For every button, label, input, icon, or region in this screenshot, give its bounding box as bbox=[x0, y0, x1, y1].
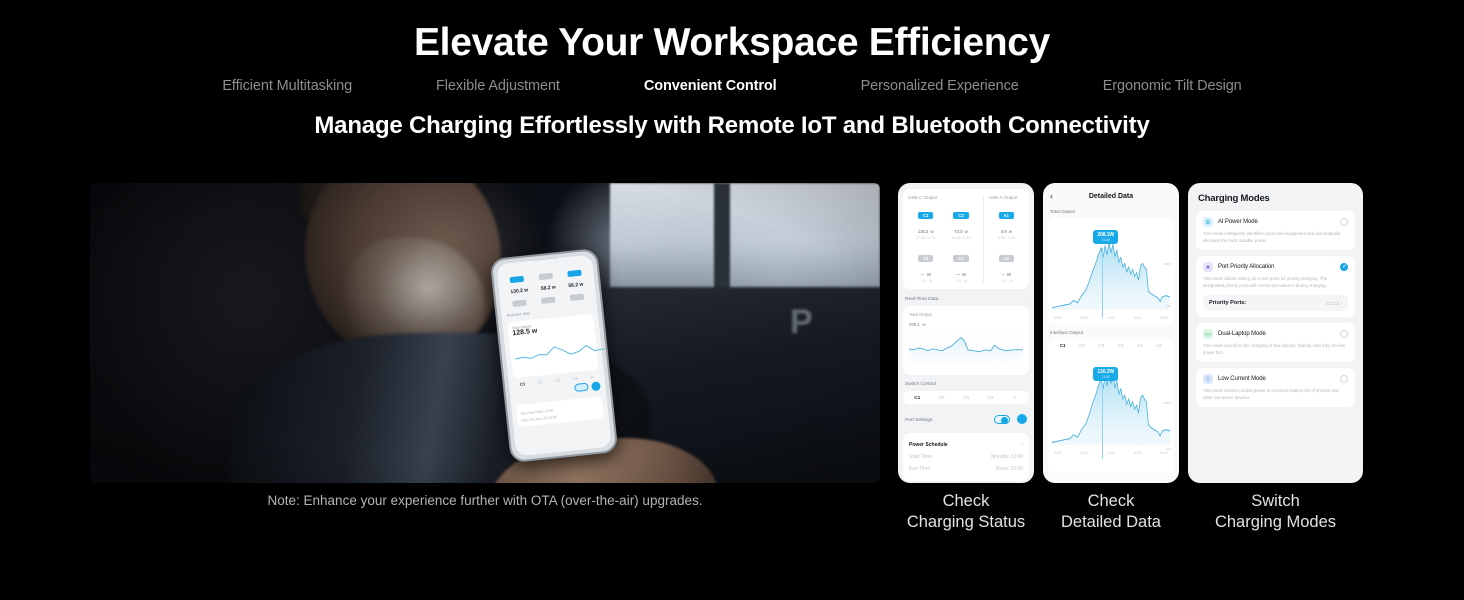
mode-ai-header: ⚙ AI Power Mode bbox=[1203, 217, 1348, 227]
timer-toggle[interactable] bbox=[994, 415, 1010, 424]
priority-ports-label: Priority Ports: bbox=[1209, 300, 1246, 306]
interface-output-tooltip: 130.2W 11:30 bbox=[1093, 367, 1118, 381]
iface-x-tick-3: 18:00 bbox=[1134, 451, 1142, 455]
switch-tab-a[interactable]: A bbox=[1003, 395, 1027, 400]
port-a1-badge: A1 bbox=[999, 212, 1014, 219]
promo-page: Elevate Your Workspace Efficiency Effici… bbox=[0, 0, 1464, 600]
interface-output-x-axis: 00:00 06:00 12:00 18:00 24:00 bbox=[1052, 451, 1170, 455]
usb-c-row-2: C3 --- W --V / --A C4 --- W --V / --A bbox=[908, 247, 979, 283]
total-x-tick-3: 18:00 bbox=[1134, 316, 1142, 320]
end-time-value: Never 15:00 bbox=[996, 466, 1023, 472]
priority-ports-row[interactable]: Priority Ports: C1 C2 › bbox=[1203, 295, 1348, 311]
charging-modes-title: Charging Modes bbox=[1198, 193, 1353, 204]
nav-item-convenient-control[interactable]: Convenient Control bbox=[602, 78, 819, 94]
switch-tab-c4[interactable]: C4 bbox=[978, 395, 1002, 400]
content-row: P 130.2 w 58.2 w bbox=[90, 183, 1376, 483]
port-c3-detail: --V / --A bbox=[908, 279, 943, 283]
mode-dl-radio[interactable] bbox=[1340, 330, 1348, 338]
screenshot-charging-status: USB-C Output C1 130.2 w 27.53 / 4.73 C2 bbox=[898, 183, 1034, 533]
screenshot-charging-modes: Charging Modes ⚙ AI Power Mode This mode… bbox=[1188, 183, 1363, 533]
interface-tab-a1[interactable]: A1 bbox=[1130, 343, 1149, 348]
usb-a-row-1: A1 4.9 w 4.86 / 1.16 bbox=[989, 204, 1024, 240]
iface-x-tick-4: 24:00 bbox=[1160, 451, 1168, 455]
port-c1[interactable]: C1 130.2 w 27.53 / 4.73 bbox=[908, 204, 943, 240]
port-c2-power: 73.0 w bbox=[943, 225, 978, 235]
port-settings-row: Port Settings bbox=[905, 411, 1027, 429]
app-screenshots: USB-C Output C1 130.2 w 27.53 / 4.73 C2 bbox=[898, 183, 1363, 533]
interface-output-card: C1 C2 C3 C4 A1 A2 130.2W 11:30 bbox=[1048, 339, 1174, 473]
screenshot-1-caption: Check Charging Status bbox=[907, 491, 1025, 533]
port-a1-power: 4.9 w bbox=[989, 225, 1024, 235]
usb-a-row-2: A2 -- W --V / --A bbox=[989, 247, 1024, 283]
charging-modes-screen: Charging Modes ⚙ AI Power Mode This mode… bbox=[1188, 183, 1363, 421]
switch-control-header: Switch Control bbox=[905, 382, 1027, 387]
total-output-y-max: 500W bbox=[1163, 262, 1171, 266]
section-subtitle: Manage Charging Effortlessly with Remote… bbox=[0, 112, 1464, 140]
port-c3-unit: W bbox=[927, 272, 931, 277]
interface-output-tooltip-line bbox=[1102, 385, 1103, 459]
start-time-label: Start Time bbox=[909, 454, 932, 460]
detailed-data-screen: ‹ Detailed Data Total Output 208.1W 11:3… bbox=[1043, 183, 1179, 479]
ai-chip-icon: ⚙ bbox=[1203, 217, 1213, 227]
total-output-section-label: Total Output bbox=[1050, 209, 1172, 214]
realtime-data-label: Real-Time Data bbox=[905, 297, 938, 302]
nav-item-personalized-experience[interactable]: Personalized Experience bbox=[819, 78, 1061, 94]
screenshot-1-frame: USB-C Output C1 130.2 w 27.53 / 4.73 C2 bbox=[898, 183, 1034, 483]
screenshot-3-caption: Switch Charging Modes bbox=[1215, 491, 1336, 533]
detail-navbar: ‹ Detailed Data bbox=[1048, 189, 1174, 203]
mode-lc-name: Low Current Mode bbox=[1218, 376, 1340, 382]
chevron-right-icon: › bbox=[1025, 296, 1027, 302]
switch-tab-c3[interactable]: C3 bbox=[954, 395, 978, 400]
total-x-tick-1: 06:00 bbox=[1081, 316, 1089, 320]
nav-item-ergonomic-tilt-design[interactable]: Ergonomic Tilt Design bbox=[1061, 78, 1284, 94]
power-toggle-icon[interactable] bbox=[1017, 414, 1027, 424]
port-c2-unit: w bbox=[965, 229, 968, 234]
usb-c-title: USB-C Output bbox=[908, 195, 979, 200]
total-output-unit: w bbox=[923, 322, 926, 327]
switch-control-label: Switch Control bbox=[905, 382, 936, 387]
schedule-row-end: End Time Never 15:00 bbox=[909, 463, 1023, 475]
photo-vignette bbox=[90, 183, 880, 483]
mode-dl-desc: This mode prioritizes the charging of tw… bbox=[1203, 343, 1348, 356]
port-c4-watts: --- bbox=[956, 272, 960, 277]
iface-x-tick-0: 00:00 bbox=[1054, 451, 1062, 455]
iface-x-tick-2: 12:00 bbox=[1107, 451, 1115, 455]
interface-tab-c2[interactable]: C2 bbox=[1072, 343, 1091, 348]
nav-item-efficient-multitasking[interactable]: Efficient Multitasking bbox=[180, 78, 394, 94]
lifestyle-photo: P 130.2 w 58.2 w bbox=[90, 183, 880, 483]
mode-pp-header: ★ Port Priority Allocation bbox=[1203, 262, 1348, 272]
mode-dual-laptop[interactable]: ▭ Dual-Laptop Mode This mode prioritizes… bbox=[1196, 323, 1355, 362]
usb-c-group: USB-C Output C1 130.2 w 27.53 / 4.73 C2 bbox=[908, 195, 984, 283]
mode-dl-header: ▭ Dual-Laptop Mode bbox=[1203, 329, 1348, 339]
mode-dl-name: Dual-Laptop Mode bbox=[1218, 331, 1340, 337]
interface-tab-a2[interactable]: A2 bbox=[1150, 343, 1169, 348]
port-a1-unit: w bbox=[1009, 229, 1012, 234]
total-x-tick-0: 00:00 bbox=[1054, 316, 1062, 320]
laptop-icon: ▭ bbox=[1203, 329, 1213, 339]
port-c1-power: 130.2 w bbox=[908, 225, 943, 235]
port-c4-detail: --V / --A bbox=[943, 279, 978, 283]
port-settings-controls bbox=[994, 411, 1027, 429]
interface-tab-c3[interactable]: C3 bbox=[1092, 343, 1111, 348]
interface-tab-c4[interactable]: C4 bbox=[1111, 343, 1130, 348]
low-current-icon: ☉ bbox=[1203, 374, 1213, 384]
port-c1-watts: 130.2 bbox=[918, 229, 929, 234]
port-settings-label: Port Settings bbox=[905, 418, 932, 423]
switch-tab-c2[interactable]: C2 bbox=[929, 395, 953, 400]
mode-lc-desc: This mode reduces output power to conser… bbox=[1203, 388, 1348, 401]
end-time-label: End Time bbox=[909, 466, 930, 472]
start-time-value: Monday 12:00 bbox=[991, 454, 1023, 460]
port-a2[interactable]: A2 -- W --V / --A bbox=[989, 247, 1024, 283]
interface-tab-c1[interactable]: C1 bbox=[1053, 343, 1072, 348]
total-x-tick-2: 12:00 bbox=[1107, 316, 1115, 320]
port-a2-badge: A2 bbox=[999, 255, 1014, 262]
total-output-number: 208.1 bbox=[909, 322, 920, 327]
iface-x-tick-1: 06:00 bbox=[1081, 451, 1089, 455]
interface-y-max: 150W bbox=[1163, 401, 1171, 405]
port-a1-detail: 4.86 / 1.16 bbox=[989, 236, 1024, 240]
screenshot-detailed-data: ‹ Detailed Data Total Output 208.1W 11:3… bbox=[1043, 183, 1179, 533]
total-x-tick-4: 24:00 bbox=[1160, 316, 1168, 320]
port-c1-badge: C1 bbox=[918, 212, 933, 219]
feature-nav: Efficient Multitasking Flexible Adjustme… bbox=[0, 78, 1464, 94]
realtime-data-header[interactable]: Real-Time Data › bbox=[905, 296, 1027, 302]
mode-ai-radio[interactable] bbox=[1340, 218, 1348, 226]
mode-lc-radio[interactable] bbox=[1340, 375, 1348, 383]
port-c3-badge: C3 bbox=[918, 255, 933, 262]
priority-ports-text: C1 C2 bbox=[1326, 301, 1339, 306]
usb-a-title: USB-A Output bbox=[989, 195, 1024, 200]
power-schedule-card: Power Schedule › Start Time Monday 12:00… bbox=[903, 433, 1029, 481]
nav-item-flexible-adjustment[interactable]: Flexible Adjustment bbox=[394, 78, 602, 94]
port-c1-detail: 27.53 / 4.73 bbox=[908, 236, 943, 240]
port-c2-watts: 73.0 bbox=[954, 229, 962, 234]
screenshot-2-caption: Check Detailed Data bbox=[1061, 491, 1161, 533]
port-a1-watts: 4.9 bbox=[1001, 229, 1007, 234]
port-a1[interactable]: A1 4.9 w 4.86 / 1.16 bbox=[989, 204, 1024, 240]
port-c3-power: --- W bbox=[908, 268, 943, 278]
port-c4-power: --- W bbox=[943, 268, 978, 278]
switch-control-tabs: C1 C2 C3 C4 A bbox=[903, 391, 1029, 404]
page-title: Elevate Your Workspace Efficiency bbox=[0, 0, 1464, 66]
total-output-card: Total Output 208.1 w bbox=[903, 306, 1029, 375]
screenshot-3-frame: Charging Modes ⚙ AI Power Mode This mode… bbox=[1188, 183, 1363, 483]
mode-pp-desc: This mode allows setting up to two ports… bbox=[1203, 276, 1348, 289]
port-c2[interactable]: C2 73.0 w 14.86 / 3.19 bbox=[943, 204, 978, 240]
total-output-x-axis: 00:00 06:00 12:00 18:00 24:00 bbox=[1052, 316, 1170, 320]
port-c3[interactable]: C3 --- W --V / --A bbox=[908, 247, 943, 283]
usb-a-group: USB-A Output A1 4.9 w 4.86 / 1.16 bbox=[984, 195, 1024, 283]
photo-note: Note: Enhance your experience further wi… bbox=[90, 493, 880, 508]
port-output-panel: USB-C Output C1 130.2 w 27.53 / 4.73 C2 bbox=[903, 189, 1029, 289]
port-c3-watts: --- bbox=[921, 272, 925, 277]
total-output-tooltip-time: 11:30 bbox=[1097, 238, 1114, 242]
interface-output-tabs: C1 C2 C3 C4 A1 A2 bbox=[1052, 339, 1170, 351]
mode-low-current[interactable]: ☉ Low Current Mode This mode reduces out… bbox=[1196, 368, 1355, 407]
switch-tab-c1[interactable]: C1 bbox=[905, 395, 929, 400]
total-output-y-min: 0W bbox=[1167, 304, 1172, 308]
port-c4[interactable]: C4 --- W --V / --A bbox=[943, 247, 978, 283]
interface-y-min: 0W bbox=[1167, 447, 1172, 451]
port-c4-unit: W bbox=[962, 272, 966, 277]
port-a2-detail: --V / --A bbox=[989, 279, 1024, 283]
realtime-line-chart bbox=[909, 330, 1023, 364]
usb-c-row-1: C1 130.2 w 27.53 / 4.73 C2 73.0 w 14.86 … bbox=[908, 204, 979, 240]
power-schedule-header[interactable]: Power Schedule › bbox=[909, 439, 1023, 451]
mode-pp-name: Port Priority Allocation bbox=[1218, 264, 1340, 270]
mode-ai-name: AI Power Mode bbox=[1218, 219, 1340, 225]
port-a2-power: -- W bbox=[989, 268, 1024, 278]
port-a2-unit: W bbox=[1007, 272, 1011, 277]
total-output-chart-card: 208.1W 11:30 500W 0W bbox=[1048, 218, 1174, 324]
charging-status-screen: USB-C Output C1 130.2 w 27.53 / 4.73 C2 bbox=[898, 183, 1034, 483]
port-a2-watts: -- bbox=[1002, 272, 1005, 277]
port-c4-badge: C4 bbox=[953, 255, 968, 262]
port-c1-unit: w bbox=[930, 229, 933, 234]
port-c2-detail: 14.86 / 3.19 bbox=[943, 236, 978, 240]
total-output-label: Total Output bbox=[909, 312, 1023, 317]
schedule-row-start: Start Time Monday 12:00 bbox=[909, 451, 1023, 463]
mode-port-priority[interactable]: ★ Port Priority Allocation This mode all… bbox=[1196, 256, 1355, 317]
priority-ports-value: C1 C2 › bbox=[1326, 301, 1342, 306]
total-output-tooltip: 208.1W 11:30 bbox=[1093, 230, 1118, 244]
mode-pp-radio[interactable] bbox=[1340, 263, 1348, 271]
total-output-tooltip-line bbox=[1102, 248, 1103, 318]
chevron-right-icon-schedule: › bbox=[1021, 442, 1023, 448]
interface-output-tooltip-time: 11:30 bbox=[1097, 375, 1114, 379]
detail-title: Detailed Data bbox=[1089, 193, 1133, 200]
power-schedule-label: Power Schedule bbox=[909, 442, 948, 448]
interface-output-section-label: Interface Output bbox=[1050, 330, 1172, 335]
mode-lc-header: ☉ Low Current Mode bbox=[1203, 374, 1348, 384]
total-output-value: 208.1 w bbox=[909, 318, 1023, 328]
screenshot-2-frame: ‹ Detailed Data Total Output 208.1W 11:3… bbox=[1043, 183, 1179, 483]
mode-ai-desc: This mode intelligently identifies conne… bbox=[1203, 231, 1348, 244]
shield-priority-icon: ★ bbox=[1203, 262, 1213, 272]
port-c2-badge: C2 bbox=[953, 212, 968, 219]
mode-ai-power[interactable]: ⚙ AI Power Mode This mode intelligently … bbox=[1196, 211, 1355, 250]
back-chevron-icon[interactable]: ‹ bbox=[1050, 192, 1053, 201]
